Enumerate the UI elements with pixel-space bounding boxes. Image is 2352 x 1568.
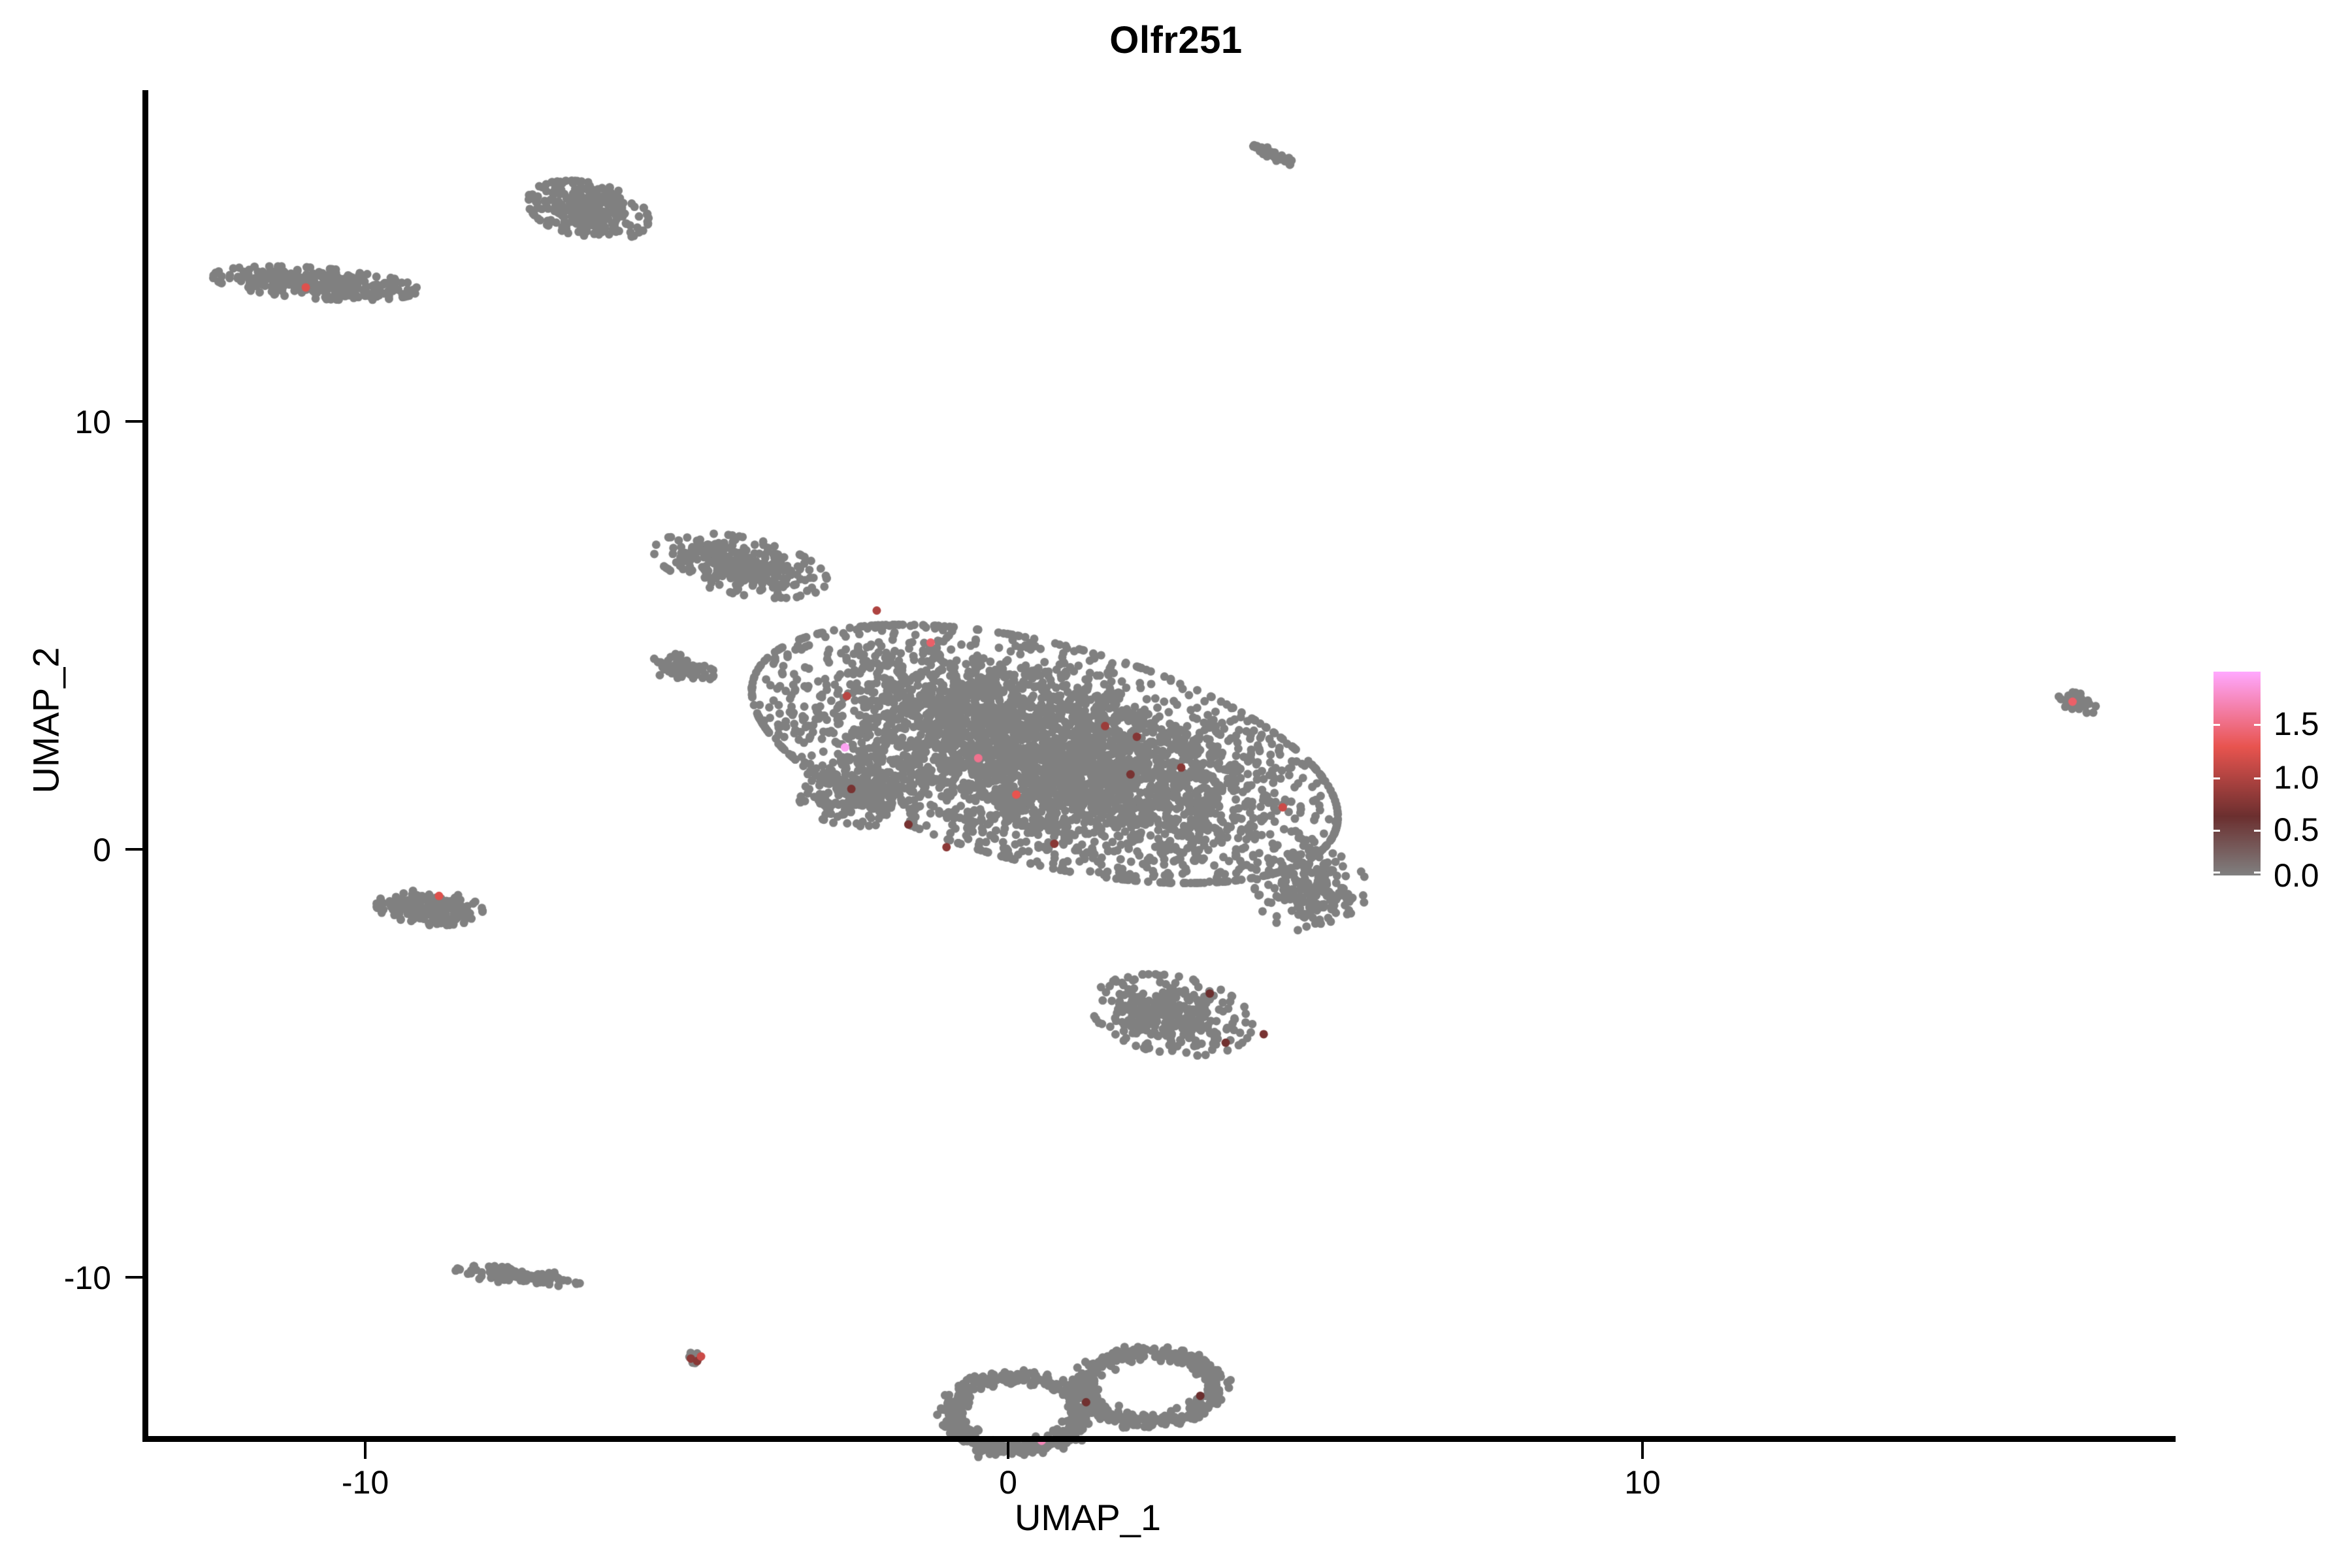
x-axis-line	[142, 1436, 2176, 1442]
legend-tick-mark	[2254, 872, 2261, 874]
legend-label: 1.0	[2274, 761, 2319, 794]
legend-label: 0.5	[2274, 813, 2319, 846]
y-tick-label: 10	[13, 403, 111, 441]
legend-tick-mark	[2254, 830, 2261, 832]
y-tick-mark	[125, 1276, 142, 1279]
legend-tick-mark	[2213, 777, 2220, 779]
y-tick-mark	[125, 848, 142, 851]
legend-tick-mark	[2213, 872, 2220, 874]
y-tick-label: -10	[13, 1259, 111, 1297]
legend-tick-mark	[2254, 777, 2261, 779]
legend-colorbar	[2213, 672, 2261, 875]
legend-label: 1.5	[2274, 708, 2319, 740]
legend-tick-mark	[2213, 830, 2220, 832]
x-axis-label: UMAP_1	[0, 1496, 2176, 1539]
legend-tick-mark	[2254, 724, 2261, 726]
legend-tick-mark	[2213, 724, 2220, 726]
page-title: Olfr251	[0, 18, 2352, 62]
y-axis-line	[142, 90, 148, 1441]
color-legend: 1.5 1.0 0.5 0.0	[2213, 672, 2352, 881]
x-tick-mark	[1641, 1442, 1644, 1459]
y-axis-label: UMAP_2	[25, 459, 67, 982]
x-tick-mark	[364, 1442, 367, 1459]
y-tick-mark	[125, 420, 142, 423]
scatter-plot-canvas	[0, 0, 2352, 1568]
x-tick-mark	[1007, 1442, 1009, 1459]
umap-figure: Olfr251 -10 0 10 10 0 -10 UMAP_1 UMAP_2 …	[0, 0, 2352, 1568]
legend-label: 0.0	[2274, 859, 2319, 892]
